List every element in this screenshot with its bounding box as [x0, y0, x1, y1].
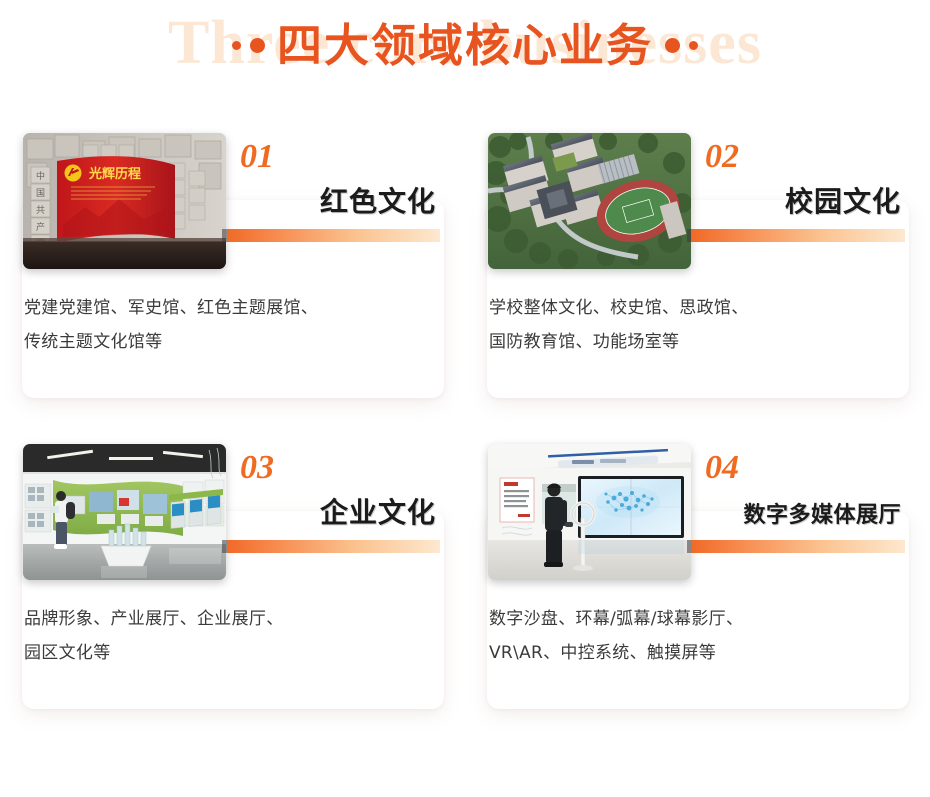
card-description-line-2: 国防教育馆、功能场室等: [489, 325, 899, 359]
business-card-01[interactable]: 中国 共产党: [0, 108, 465, 419]
card-title: 数字多媒体展厅: [697, 497, 905, 529]
card-description: 学校整体文化、校史馆、思政馆、 国防教育馆、功能场室等: [489, 291, 899, 359]
svg-text:光辉历程: 光辉历程: [88, 166, 141, 182]
card-number: 01: [240, 138, 440, 176]
card-thumbnail-digital-hall[interactable]: [488, 444, 691, 580]
card-description-line-1: 品牌形象、产业展厅、企业展厅、: [24, 602, 434, 636]
card-title: 企业文化: [232, 491, 440, 531]
page-header: Three core businesses 四大领域核心业务: [0, 0, 930, 108]
card-thumbnail-campus[interactable]: [488, 133, 691, 269]
business-card-03[interactable]: 03 企业文化 品牌形象、产业展厅、企业展厅、 园区文化等: [0, 419, 465, 730]
header-foreground: 四大领域核心业务: [0, 20, 930, 72]
svg-text:产: 产: [36, 221, 45, 233]
card-description-line-1: 数字沙盘、环幕/弧幕/球幕影厅、: [489, 602, 899, 636]
card-description: 数字沙盘、环幕/弧幕/球幕影厅、 VR\AR、中控系统、触摸屏等: [489, 602, 899, 670]
business-card-grid: 中国 共产党: [0, 108, 930, 730]
card-description-line-2: 园区文化等: [24, 636, 434, 670]
header-left-dots: [232, 38, 265, 53]
card-description: 党建党建馆、军史馆、红色主题展馆、 传统主题文化馆等: [24, 291, 434, 359]
card-thumbnail-corporate[interactable]: [23, 444, 226, 580]
card-accent-bar: [227, 540, 440, 553]
business-card-02[interactable]: 02 校园文化 学校整体文化、校史馆、思政馆、 国防教育馆、功能场室等: [465, 108, 930, 419]
card-accent-bar: [227, 229, 440, 242]
card-description-line-1: 党建党建馆、军史馆、红色主题展馆、: [24, 291, 434, 325]
dot-small-icon: [232, 41, 241, 50]
card-thumbnail-red-culture[interactable]: 中国 共产党: [23, 133, 226, 269]
card-accent-bar: [692, 540, 905, 553]
page-title: 四大领域核心业务: [277, 20, 653, 72]
card-title: 红色文化: [232, 180, 440, 220]
dot-small-icon: [689, 41, 698, 50]
dot-large-icon: [250, 38, 265, 53]
business-card-04[interactable]: 04 数字多媒体展厅 数字沙盘、环幕/弧幕/球幕影厅、 VR\AR、中控系统、触…: [465, 419, 930, 730]
card-accent-bar: [692, 229, 905, 242]
svg-text:国: 国: [36, 188, 45, 199]
card-description-line-2: VR\AR、中控系统、触摸屏等: [489, 636, 899, 670]
card-title: 校园文化: [697, 180, 905, 220]
dot-large-icon: [665, 38, 680, 53]
card-number: 03: [240, 449, 440, 487]
svg-text:中: 中: [36, 170, 45, 182]
card-description-line-1: 学校整体文化、校史馆、思政馆、: [489, 291, 899, 325]
card-number: 04: [705, 449, 905, 487]
card-number: 02: [705, 138, 905, 176]
card-description-line-2: 传统主题文化馆等: [24, 325, 434, 359]
header-right-dots: [665, 38, 698, 53]
card-description: 品牌形象、产业展厅、企业展厅、 园区文化等: [24, 602, 434, 670]
svg-text:共: 共: [36, 205, 45, 216]
